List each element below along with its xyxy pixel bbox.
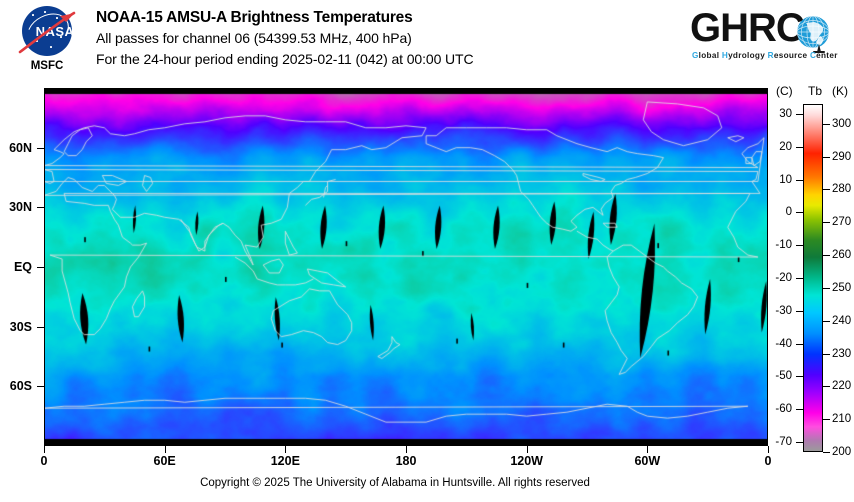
colorbar-kelvin-label: 270 bbox=[832, 216, 851, 228]
longitude-tick bbox=[527, 446, 528, 453]
ghrc-logo: GHRC Global Hydrology Resource Center bbox=[690, 6, 840, 68]
colorbar-celsius-unit: (C) bbox=[776, 84, 793, 98]
colorbar-kelvin-label: 280 bbox=[832, 183, 851, 195]
colorbar-kelvin-label: 200 bbox=[832, 446, 851, 458]
colorbar-celsius-label: -10 bbox=[775, 239, 792, 251]
colorbar-kelvin-label: 210 bbox=[832, 413, 851, 425]
colorbar-kelvin-label: 250 bbox=[832, 282, 851, 294]
colorbar-celsius-label: 0 bbox=[786, 206, 792, 218]
latitude-tick bbox=[37, 207, 44, 208]
colorbar-kelvin-tick bbox=[823, 157, 830, 158]
period-subtitle: For the 24-hour period ending 2025-02-11… bbox=[96, 49, 474, 70]
latitude-tick bbox=[37, 327, 44, 328]
brightness-temperature-map[interactable]: 60N30NEQ30S60S 060E120E180120W60W0 bbox=[44, 88, 768, 446]
longitude-tick bbox=[406, 446, 407, 453]
colorbar-celsius-label: -60 bbox=[775, 403, 792, 415]
latitude-label: 30N bbox=[9, 200, 32, 214]
longitude-tick bbox=[165, 446, 166, 453]
longitude-tick bbox=[768, 446, 769, 453]
colorbar-kelvin-label: 230 bbox=[832, 348, 851, 360]
colorbar-kelvin-tick bbox=[823, 354, 830, 355]
colorbar-celsius-tick bbox=[796, 311, 803, 312]
latitude-label: 60N bbox=[9, 141, 32, 155]
longitude-label: 0 bbox=[765, 454, 772, 468]
colorbar-celsius-tick bbox=[796, 376, 803, 377]
longitude-label: 120E bbox=[271, 454, 300, 468]
longitude-label: 60E bbox=[154, 454, 176, 468]
nasa-swoosh-icon bbox=[16, 10, 78, 54]
latitude-tick bbox=[37, 386, 44, 387]
latitude-label: EQ bbox=[14, 260, 32, 274]
colorbar-celsius-label: 20 bbox=[779, 141, 792, 153]
colorbar-celsius-tick bbox=[796, 212, 803, 213]
colorbar-celsius-label: -20 bbox=[775, 272, 792, 284]
colorbar-celsius-tick bbox=[796, 278, 803, 279]
colorbar-kelvin-label: 260 bbox=[832, 249, 851, 261]
copyright-notice: Copyright © 2025 The University of Alaba… bbox=[0, 477, 790, 489]
colorbar-celsius-label: -30 bbox=[775, 305, 792, 317]
colorbar-kelvin-tick bbox=[823, 222, 830, 223]
colorbar-variable-label: Tb bbox=[808, 84, 822, 98]
colorbar-celsius-label: -70 bbox=[775, 436, 792, 448]
colorbar-kelvin-tick bbox=[823, 124, 830, 125]
colorbar-kelvin-tick bbox=[823, 386, 830, 387]
colorbar-kelvin-label: 220 bbox=[832, 380, 851, 392]
map-raster bbox=[44, 88, 768, 446]
latitude-tick bbox=[37, 267, 44, 268]
page-header: NASA MSFC NOAA-15 AMSU-A Brightness Temp… bbox=[0, 0, 854, 88]
longitude-label: 180 bbox=[396, 454, 417, 468]
globe-icon bbox=[794, 14, 834, 54]
nasa-logo: NASA MSFC bbox=[14, 4, 78, 84]
colorbar-kelvin-tick bbox=[823, 288, 830, 289]
longitude-tick bbox=[285, 446, 286, 453]
ghrc-wordmark: GHRC bbox=[690, 6, 804, 50]
colorbar-kelvin-tick bbox=[823, 419, 830, 420]
colorbar-kelvin-unit: (K) bbox=[832, 84, 848, 98]
latitude-tick bbox=[37, 148, 44, 149]
colorbar-kelvin-label: 290 bbox=[832, 151, 851, 163]
channel-subtitle: All passes for channel 06 (54399.53 MHz,… bbox=[96, 28, 474, 49]
colorbar-celsius-label: 10 bbox=[779, 174, 792, 186]
title-block: NOAA-15 AMSU-A Brightness Temperatures A… bbox=[96, 8, 474, 70]
colorbar-celsius-tick bbox=[796, 442, 803, 443]
latitude-label: 30S bbox=[10, 320, 32, 334]
longitude-tick bbox=[647, 446, 648, 453]
colorbar-kelvin-label: 300 bbox=[832, 118, 851, 130]
longitude-label: 60W bbox=[634, 454, 660, 468]
colorbar-celsius-tick bbox=[796, 114, 803, 115]
colorbar-celsius-label: 30 bbox=[779, 108, 792, 120]
ghrc-tagline: Global Hydrology Resource Center bbox=[692, 51, 838, 60]
colorbar-kelvin-label: 240 bbox=[832, 315, 851, 327]
colorbar: (C) Tb (K) 3020100-10-20-30-40-50-60-703… bbox=[776, 84, 854, 464]
colorbar-celsius-tick bbox=[796, 245, 803, 246]
page-title: NOAA-15 AMSU-A Brightness Temperatures bbox=[96, 8, 474, 28]
colorbar-kelvin-tick bbox=[823, 321, 830, 322]
colorbar-celsius-label: -40 bbox=[775, 338, 792, 350]
longitude-label: 0 bbox=[41, 454, 48, 468]
colorbar-gradient bbox=[803, 104, 823, 452]
colorbar-kelvin-tick bbox=[823, 255, 830, 256]
colorbar-kelvin-tick bbox=[823, 452, 830, 453]
longitude-label: 120W bbox=[510, 454, 543, 468]
colorbar-kelvin-tick bbox=[823, 189, 830, 190]
colorbar-celsius-tick bbox=[796, 409, 803, 410]
latitude-label: 60S bbox=[10, 379, 32, 393]
colorbar-celsius-label: -50 bbox=[775, 370, 792, 382]
colorbar-celsius-tick bbox=[796, 344, 803, 345]
colorbar-celsius-tick bbox=[796, 180, 803, 181]
nasa-center-label: MSFC bbox=[14, 60, 80, 72]
colorbar-celsius-tick bbox=[796, 147, 803, 148]
longitude-tick bbox=[44, 446, 45, 453]
